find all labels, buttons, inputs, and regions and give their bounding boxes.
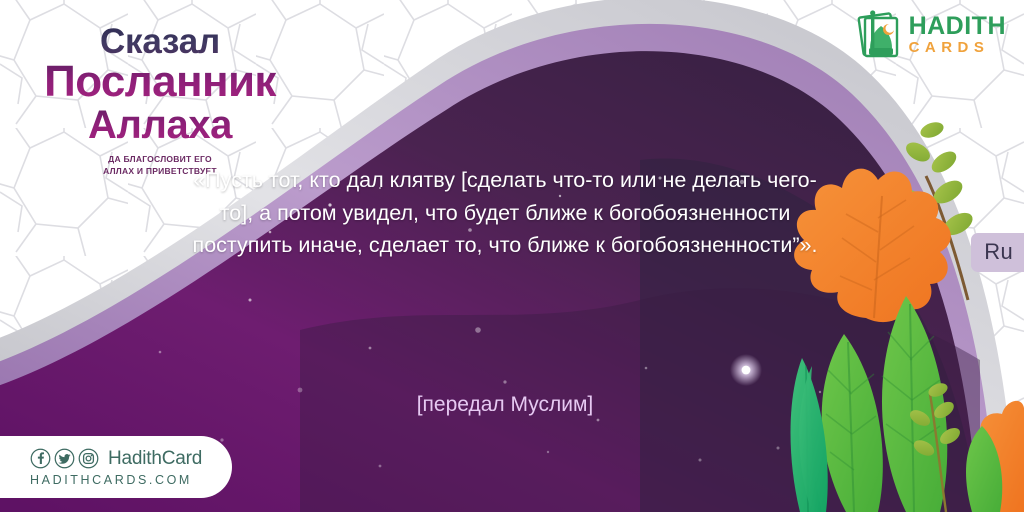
instagram-icon[interactable] bbox=[78, 448, 99, 469]
green-leaf-mid bbox=[822, 334, 883, 512]
brand-logo[interactable]: HADITH CARDS bbox=[856, 8, 1006, 60]
brand-wordmark: HADITH CARDS bbox=[909, 14, 1006, 55]
headline-line-2: Посланник bbox=[0, 60, 320, 104]
twitter-icon[interactable] bbox=[54, 448, 75, 469]
brand-cards-text: CARDS bbox=[909, 40, 1006, 55]
footer-handle: HadithCard bbox=[108, 448, 202, 470]
hadith-card: Сказал Посланник Аллаха ДА БЛАГОСЛОВИТ Е… bbox=[0, 0, 1024, 512]
green-leaf-large bbox=[882, 296, 947, 512]
headline-line-1: Сказал bbox=[0, 24, 320, 60]
facebook-icon[interactable] bbox=[30, 448, 51, 469]
footer-social-row: HadithCard bbox=[30, 448, 232, 470]
mosque-dome-icon bbox=[856, 8, 902, 60]
hadith-narrator: [передал Муслим] bbox=[190, 393, 820, 417]
headline-line-3: Аллаха bbox=[0, 104, 320, 146]
social-icons bbox=[30, 448, 99, 469]
language-badge-ru[interactable]: Ru bbox=[971, 233, 1024, 272]
footer-website-url: HADITHCARDS.COM bbox=[30, 473, 232, 487]
headline-block: Сказал Посланник Аллаха ДА БЛАГОСЛОВИТ Е… bbox=[0, 24, 320, 177]
brand-hadith-text: HADITH bbox=[909, 14, 1006, 39]
footer-bar: HadithCard HADITHCARDS.COM bbox=[0, 436, 232, 498]
hadith-quote-text: «Пусть тот, кто дал клятву [сделать что-… bbox=[190, 164, 820, 262]
